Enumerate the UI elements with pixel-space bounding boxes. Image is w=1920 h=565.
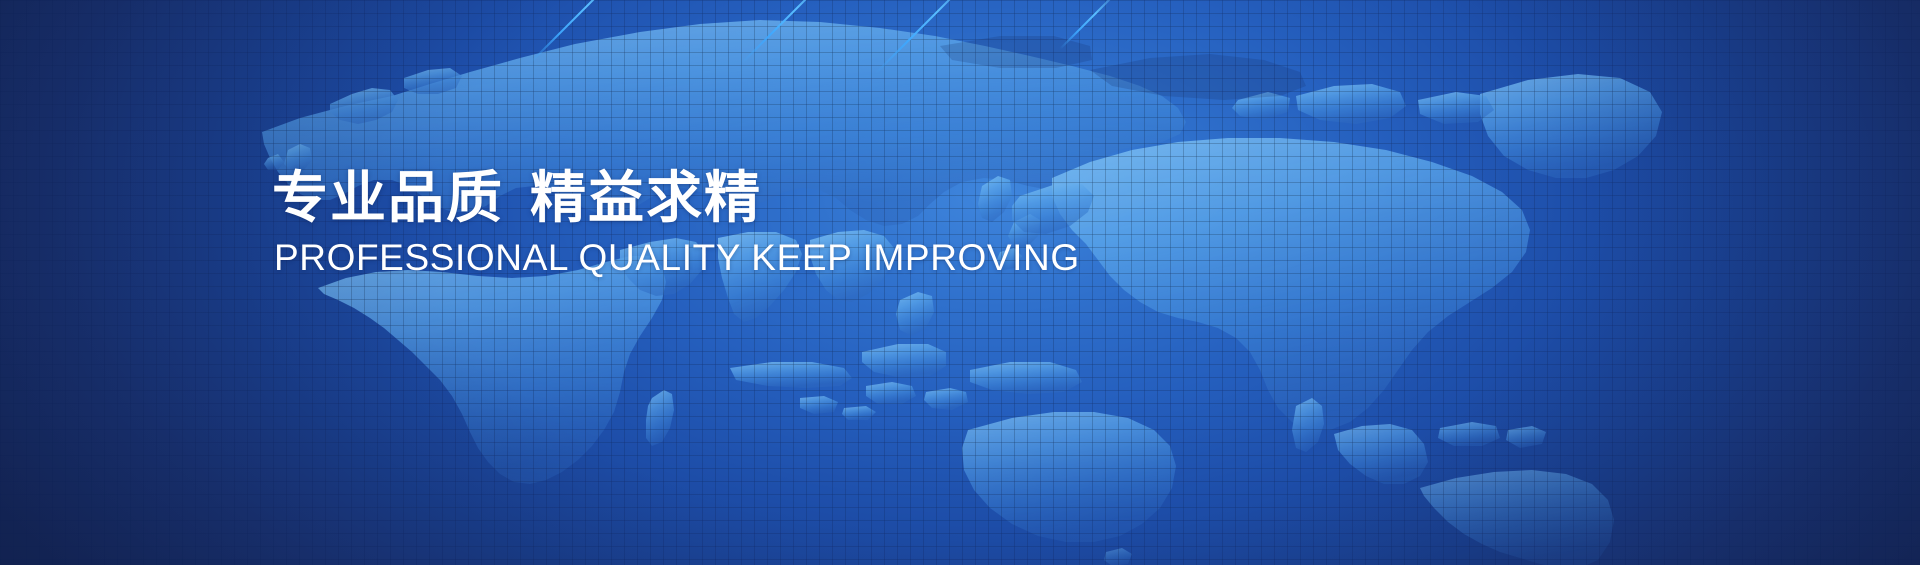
banner-subheadline: PROFESSIONAL QUALITY KEEP IMPROVING [274,238,1080,279]
grid-overlay-light [0,0,1920,565]
hero-banner: 专业品质精益求精 PROFESSIONAL QUALITY KEEP IMPRO… [0,0,1920,565]
banner-headline: 专业品质精益求精 [272,168,1080,228]
headline-segment-2: 精益求精 [530,166,762,229]
banner-copy: 专业品质精益求精 PROFESSIONAL QUALITY KEEP IMPRO… [272,168,1080,279]
headline-segment-1: 专业品质 [272,166,504,229]
